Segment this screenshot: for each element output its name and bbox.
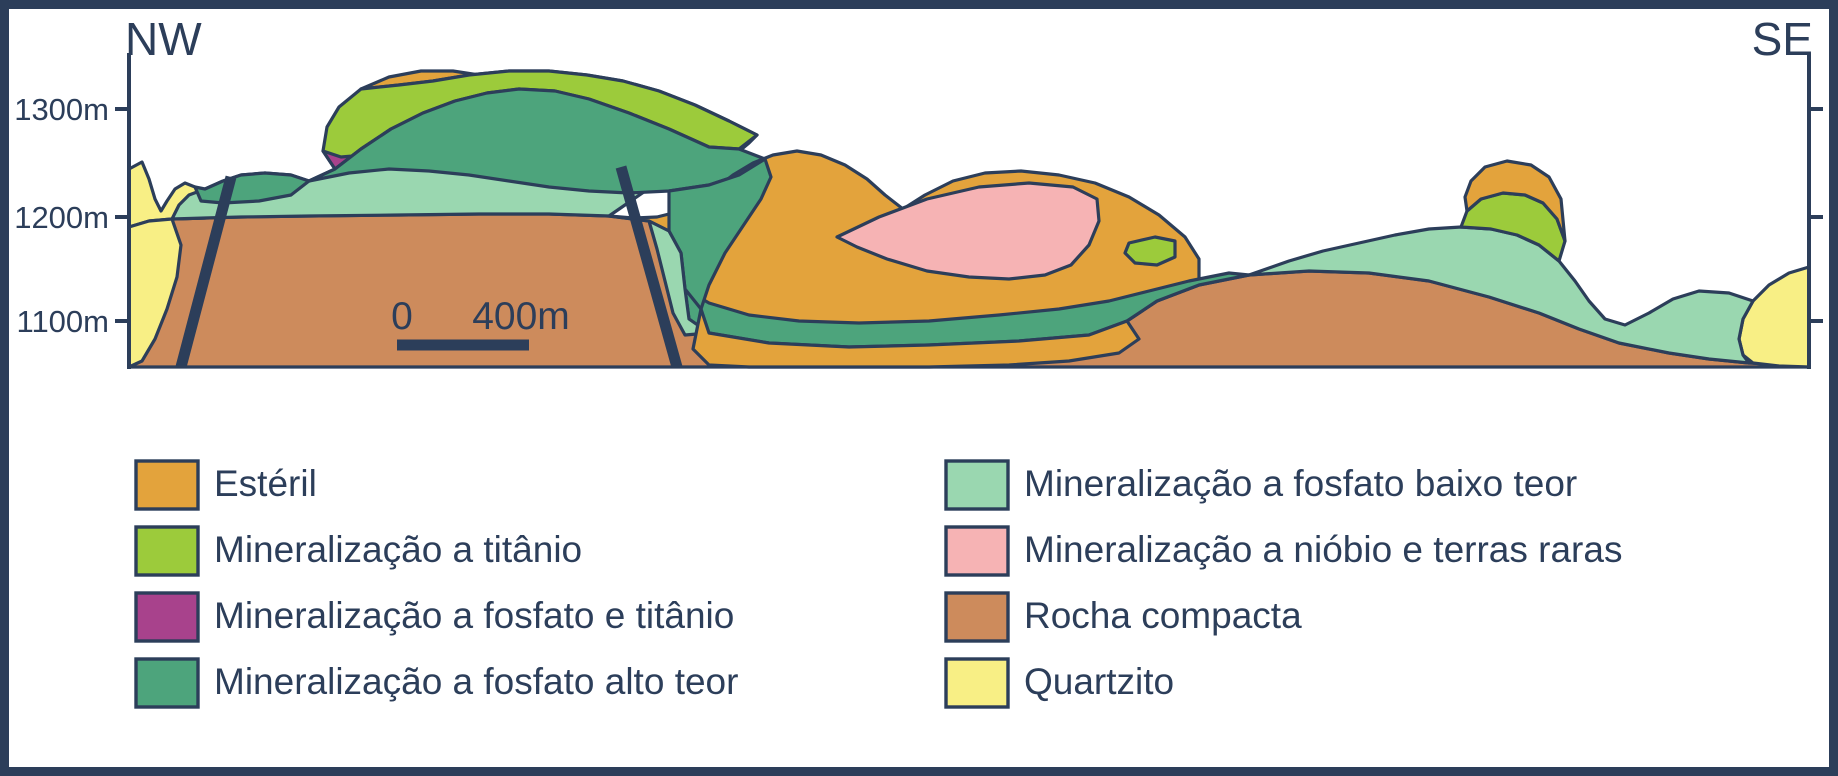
legend-item-rocha-compacta[interactable]: Rocha compacta — [946, 593, 1302, 641]
legend-item-fosfato-alto-teor[interactable]: Mineralização a fosfato alto teor — [136, 659, 738, 707]
compass-label-se: SE — [1752, 13, 1813, 65]
left-axis-label-1300: 1300m — [14, 92, 109, 127]
legend-label-esteril: Estéril — [214, 463, 317, 504]
legend-item-niobio-terras-raras[interactable]: Mineralização a nióbio e terras raras — [946, 527, 1622, 575]
legend-item-esteril[interactable]: Estéril — [136, 461, 317, 509]
compass-label-nw: NW — [125, 13, 202, 65]
legend-swatch-fosfato-baixo-teor — [946, 461, 1008, 509]
scalebar-start-label: 0 — [391, 295, 413, 338]
legend-label-fosfato-baixo-teor: Mineralização a fosfato baixo teor — [1024, 463, 1577, 504]
legend-label-fosfato-titanio: Mineralização a fosfato e titânio — [214, 595, 734, 636]
left-axis-label-1100: 1100m — [17, 304, 110, 339]
legend-label-fosfato-alto-teor: Mineralização a fosfato alto teor — [214, 661, 738, 702]
scalebar-end-label: 400m — [472, 295, 570, 338]
legend-swatch-titanio — [136, 527, 198, 575]
left-axis-label-1200: 1200m — [14, 200, 109, 235]
legend: Estéril Mineralização a titânio Minerali… — [136, 461, 1622, 707]
geology-units — [129, 71, 1809, 367]
legend-label-titanio: Mineralização a titânio — [214, 529, 582, 570]
legend-swatch-quartzito — [946, 659, 1008, 707]
legend-item-quartzito[interactable]: Quartzito — [946, 659, 1174, 707]
legend-item-fosfato-baixo-teor[interactable]: Mineralização a fosfato baixo teor — [946, 461, 1577, 509]
legend-swatch-fosfato-alto-teor — [136, 659, 198, 707]
legend-item-titanio[interactable]: Mineralização a titânio — [136, 527, 582, 575]
legend-label-niobio-terras-raras: Mineralização a nióbio e terras raras — [1024, 529, 1622, 570]
legend-swatch-niobio-terras-raras — [946, 527, 1008, 575]
legend-item-fosfato-titanio[interactable]: Mineralização a fosfato e titânio — [136, 593, 734, 641]
left-elevation-axis: 1300m 1200m 1100m — [14, 53, 129, 369]
unit-quartzito-right — [1739, 267, 1809, 367]
legend-swatch-rocha-compacta — [946, 593, 1008, 641]
legend-label-rocha-compacta: Rocha compacta — [1024, 595, 1302, 636]
geological-cross-section-figure: 1300m 1200m 1100m NW SE 0 400m Estéril — [0, 0, 1838, 776]
unit-titanio-small-lens-center — [1125, 237, 1175, 265]
legend-label-quartzito: Quartzito — [1024, 661, 1174, 702]
right-elevation-axis — [1809, 53, 1823, 369]
legend-swatch-fosfato-titanio — [136, 593, 198, 641]
legend-swatch-esteril — [136, 461, 198, 509]
cross-section-drawing: 1300m 1200m 1100m NW SE 0 400m Estéril — [9, 9, 1838, 776]
